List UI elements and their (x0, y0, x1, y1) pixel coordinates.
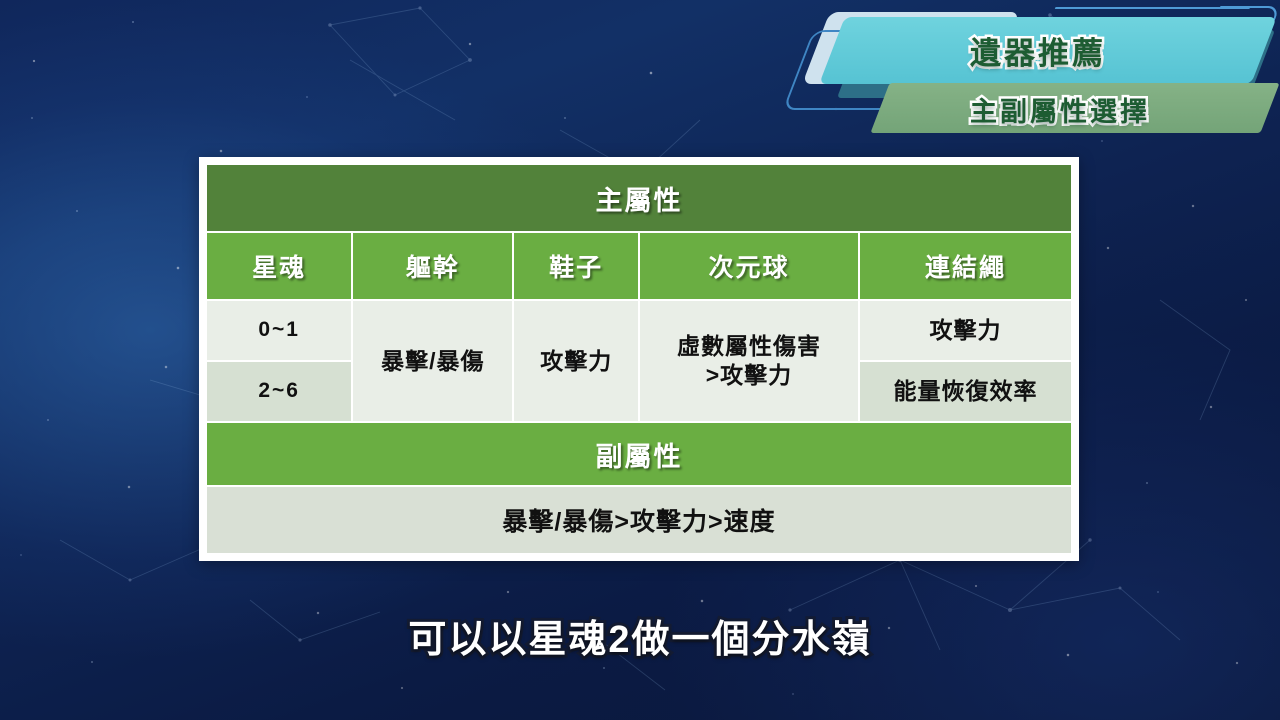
cell-rope-main-stat-high-label: 能量恢復效率 (893, 377, 1037, 406)
cell-feet-main-stat: 攻擊力 (513, 300, 639, 422)
banner-title-sub: 主副屬性選擇 (970, 90, 1150, 129)
attribute-table-frame: 主屬性 星魂 軀幹 鞋子 次元球 (199, 157, 1079, 561)
column-header-feet: 鞋子 (513, 232, 639, 300)
column-header-body-label: 軀幹 (406, 254, 460, 282)
cell-rank-0-1: 0~1 (206, 300, 352, 361)
cell-rank-2-6: 2~6 (206, 361, 352, 422)
sub-attribute-header-cell: 副屬性 (206, 422, 1072, 486)
cell-body-main-stat-label: 暴擊/暴傷 (381, 347, 484, 376)
sub-attribute-value-cell: 暴擊/暴傷>攻擊力>速度 (206, 486, 1072, 554)
cell-sphere-main-stat-label: 虛數屬性傷害 >攻擊力 (677, 332, 821, 390)
table-row-sub-header: 副屬性 (206, 422, 1072, 486)
main-attribute-header-cell: 主屬性 (206, 164, 1072, 232)
column-header-sphere-label: 次元球 (708, 254, 789, 282)
table-row-sub-value: 暴擊/暴傷>攻擊力>速度 (206, 486, 1072, 554)
column-header-body: 軀幹 (352, 232, 513, 300)
title-banner-group: 遺器推薦 主副屬性選擇 (780, 0, 1280, 150)
cell-rank-0-1-label: 0~1 (258, 317, 300, 343)
cell-rope-main-stat-low-label: 攻擊力 (929, 316, 1001, 345)
table-row-main-header: 主屬性 (206, 164, 1072, 232)
column-header-sphere: 次元球 (639, 232, 859, 300)
attribute-table: 主屬性 星魂 軀幹 鞋子 次元球 (205, 163, 1073, 555)
table-row-column-headers: 星魂 軀幹 鞋子 次元球 連結繩 (206, 232, 1072, 300)
column-header-rope: 連結繩 (859, 232, 1072, 300)
video-subtitle: 可以以星魂2做一個分水嶺 (0, 608, 1280, 663)
banner-title-main: 遺器推薦 (970, 28, 1106, 73)
cell-feet-main-stat-label: 攻擊力 (540, 347, 612, 376)
video-frame: 遺器推薦 主副屬性選擇 主屬性 星魂 (0, 0, 1280, 720)
cell-rope-main-stat-high: 能量恢復效率 (859, 361, 1072, 422)
cell-rank-2-6-label: 2~6 (258, 378, 300, 404)
cell-rope-main-stat-low: 攻擊力 (859, 300, 1072, 361)
sub-attribute-header-label: 副屬性 (596, 442, 683, 472)
column-header-soul: 星魂 (206, 232, 352, 300)
cell-sphere-main-stat: 虛數屬性傷害 >攻擊力 (639, 300, 859, 422)
table-row-rank-0-1: 0~1 暴擊/暴傷 攻擊力 虛數屬性傷害 >攻擊力 攻擊力 (206, 300, 1072, 361)
column-header-feet-label: 鞋子 (549, 254, 603, 282)
column-header-rope-label: 連結繩 (925, 254, 1006, 282)
cell-body-main-stat: 暴擊/暴傷 (352, 300, 513, 422)
main-attribute-header-label: 主屬性 (596, 186, 683, 216)
column-header-soul-label: 星魂 (252, 254, 306, 282)
sub-attribute-value-label: 暴擊/暴傷>攻擊力>速度 (502, 508, 775, 536)
